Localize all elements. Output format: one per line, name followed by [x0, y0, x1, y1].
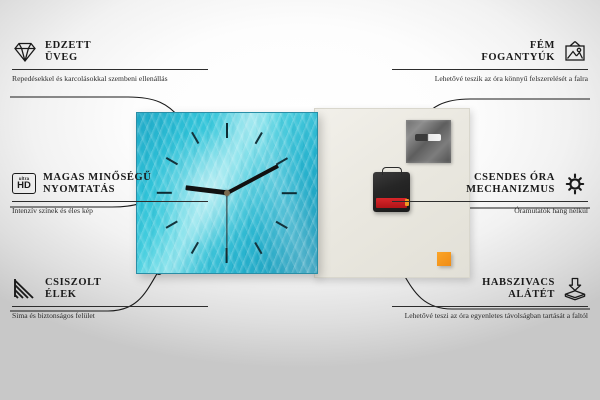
callout-description: Intenzív színek és éles kép	[12, 206, 208, 217]
picture-hanger-icon	[562, 40, 588, 64]
callout-divider	[12, 69, 208, 70]
callout-csiszolt-elek: CSISZOLT ÉLEK Sima és biztonságos felüle…	[12, 277, 208, 322]
callout-title-line1: EDZETT	[45, 40, 91, 52]
callout-divider	[12, 306, 208, 307]
foam-pad-part	[437, 252, 451, 266]
callout-description: Lehetővé teszi az óra egyenletes távolsá…	[392, 311, 588, 322]
callout-edzett-uveg: EDZETT ÜVEG Repedésekkel és karcolásokka…	[12, 40, 208, 85]
polished-edges-icon	[12, 277, 38, 301]
callout-title-line2: ÉLEK	[45, 289, 101, 301]
ultra-hd-icon-bottom-text: HD	[17, 181, 31, 191]
callout-description: Lehetővé teszik az óra könnyű felszerelé…	[392, 74, 588, 85]
callout-title-line2: ÜVEG	[45, 52, 91, 64]
callout-divider	[392, 69, 588, 70]
callout-description: Sima és biztonságos felület	[12, 311, 208, 322]
foam-pad-icon	[562, 277, 588, 301]
callout-habszivacs-alatet: HABSZIVACS ALÁTÉT Lehetővé teszi az óra …	[392, 277, 588, 322]
callout-title-line2: MECHANIZMUS	[466, 184, 555, 196]
callout-title-line1: CSISZOLT	[45, 277, 101, 289]
ultra-hd-icon: ultra HD	[12, 173, 36, 194]
callout-fem-fogantyuk: FÉM FOGANTYÚK Lehetővé teszik az óra kön…	[392, 40, 588, 85]
callout-title-line1: MAGAS MINŐSÉGŰ	[43, 172, 151, 184]
callout-title-line1: CSENDES ÓRA	[466, 172, 555, 184]
callout-title-line2: ALÁTÉT	[482, 289, 555, 301]
callout-magas-minosegu-nyomtatas: ultra HD MAGAS MINŐSÉGŰ NYOMTATÁS Intenz…	[12, 172, 208, 216]
callout-description: Óramutatók hang nélkül	[392, 206, 588, 217]
clock-center-pin	[224, 190, 230, 196]
callout-description: Repedésekkel és karcolásokkal szembeni e…	[12, 74, 208, 85]
callout-title-line2: FOGANTYÚK	[481, 52, 555, 64]
callout-title-line1: HABSZIVACS	[482, 277, 555, 289]
gear-icon	[562, 172, 588, 196]
callout-divider	[392, 201, 588, 202]
diamond-icon	[12, 40, 38, 64]
callout-title-line1: FÉM	[481, 40, 555, 52]
callout-divider	[12, 201, 208, 202]
callout-csendes-ora-mechanizmus: CSENDES ÓRA MECHANIZMUS Óramutatók hang …	[392, 172, 588, 217]
product-feature-infographic: EDZETT ÜVEG Repedésekkel és karcolásokka…	[0, 0, 600, 400]
callout-divider	[392, 306, 588, 307]
metal-hanger-part	[406, 120, 451, 163]
callout-title-line2: NYOMTATÁS	[43, 184, 151, 196]
